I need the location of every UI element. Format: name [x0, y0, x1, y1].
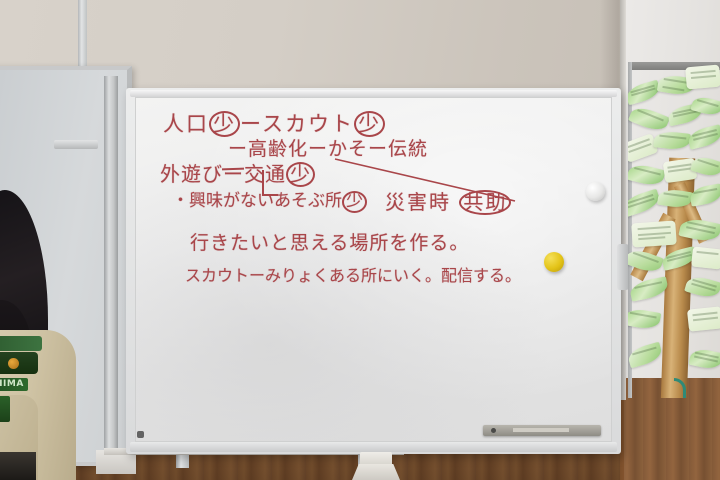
line1-part2: ースカウト: [240, 112, 354, 136]
board-clip: [54, 140, 98, 149]
tray-highlight: [513, 428, 569, 432]
handwriting-line-3: 外遊びー交通少: [160, 158, 315, 187]
badge-emblem-icon: [8, 358, 19, 369]
leaf-line: [638, 237, 664, 241]
whiteboard-stand-column: [360, 452, 392, 466]
leaf-line: [693, 316, 718, 321]
leaf-note: [686, 124, 720, 150]
line3-circled: 少: [286, 162, 315, 187]
whiteboard-top-rail: [130, 90, 617, 97]
leaf-line: [638, 231, 671, 235]
leaf-note: [653, 130, 691, 151]
leaf-note: [687, 306, 720, 331]
leaf-line: [668, 168, 692, 173]
leaf-note-highlight: [631, 220, 677, 247]
leaf-line: [694, 188, 718, 194]
leaf-line: [690, 70, 715, 74]
leaf-line: [692, 312, 717, 317]
stand-post-top: [78, 0, 87, 70]
leaf-note: [628, 162, 666, 188]
leaf-line: [663, 192, 688, 197]
photo-scene: SHIMA 人口少ースカウト少 ー高齢化ーかそー伝統 外遊びー交通少 ・興味がな…: [0, 0, 720, 480]
uniform-patch-square: [0, 396, 10, 422]
leaf-note: [628, 104, 670, 135]
line4-part1: ・興味がない: [172, 191, 274, 211]
person-lower: [0, 452, 36, 480]
leaf-line: [637, 109, 664, 121]
handwriting-line-6: 行きたいと思える場所を作る。: [190, 228, 469, 255]
connector-bracket: [262, 170, 278, 196]
paper-tree-display: [628, 62, 720, 398]
leaf-line: [638, 226, 671, 230]
tray-screw-icon: [491, 428, 496, 433]
leaf-note: [688, 347, 720, 371]
leaf-note: [691, 246, 720, 269]
leaf-note: [628, 80, 662, 106]
magnet-white[interactable]: [586, 182, 605, 201]
magnet-yellow[interactable]: [544, 252, 564, 272]
handwriting-line-7: スカウトーみりょくある所にいく。配信する。: [185, 262, 521, 286]
leaf-line: [697, 251, 719, 255]
uniform-patch-badge: [0, 352, 38, 374]
line1-part1: 人口: [163, 112, 209, 136]
leaf-line: [662, 85, 684, 90]
uniform-patch-text: SHIMA: [0, 378, 24, 391]
leaf-line: [698, 159, 720, 168]
uniform-patch-name: SHIMA: [0, 378, 28, 391]
connector-arrow-icon: [333, 157, 523, 207]
uniform-patch-shoulder: [0, 336, 42, 351]
leaf-line: [632, 347, 657, 356]
leaf-line: [659, 134, 686, 139]
leaf-note: [685, 65, 720, 90]
leaf-line: [634, 167, 660, 175]
line4-part2: あそぶ所: [274, 191, 342, 211]
leaf-line: [630, 312, 657, 319]
leaf-note: [628, 342, 664, 369]
leaf-note: [628, 307, 661, 331]
leaf-line: [635, 281, 663, 289]
secondary-board-post: [104, 76, 118, 458]
whiteboard-bottom-rail: [130, 442, 617, 452]
whiteboard-stand-base: [352, 464, 400, 480]
leaf-line: [691, 75, 716, 79]
whiteboard-corner-mark: [137, 431, 144, 438]
marker-tray[interactable]: [483, 425, 601, 436]
leaf-line: [697, 99, 719, 107]
